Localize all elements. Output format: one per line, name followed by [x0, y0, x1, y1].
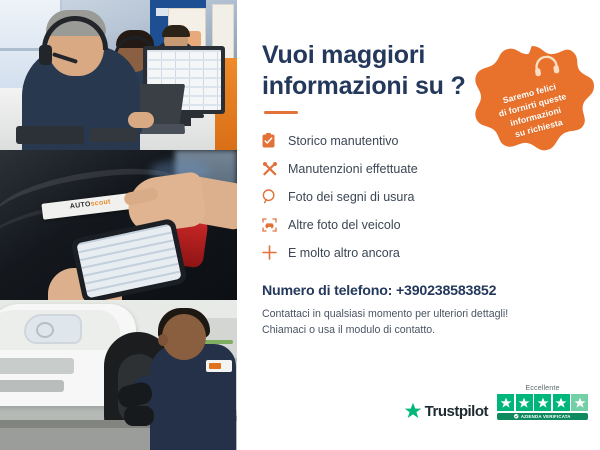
feature-label: Altre foto del veicolo — [288, 218, 401, 232]
page-title-line-1: Vuoi maggiori — [262, 41, 425, 69]
phone-number[interactable]: +390238583852 — [396, 283, 496, 299]
request-info-badge: Saremo felici di fornirti queste informa… — [470, 44, 594, 162]
car-frame-icon — [262, 218, 288, 232]
star-filled-4 — [553, 394, 570, 411]
agent-1-hand — [128, 112, 154, 128]
phone-label: Numero di telefono: — [262, 283, 396, 299]
verified-check-icon — [514, 414, 519, 419]
contact-subtext-line-2: Chiamaci o usa il modulo di contatto. — [262, 324, 435, 336]
contact-subtext: Contattaci in qualsiasi momento per ulte… — [262, 306, 578, 339]
trustpilot-star-icon — [404, 402, 422, 420]
advertisement-banner: AUTOscout — [0, 0, 600, 450]
star-partial-5 — [571, 394, 588, 411]
list-item: Altre foto del veicolo — [262, 212, 578, 237]
uniform-logo-patch — [206, 360, 232, 372]
mechanic-ear — [158, 334, 168, 346]
plus-icon — [262, 245, 288, 260]
contact-subtext-line-1: Contattaci in qualsiasi momento per ulte… — [262, 308, 508, 320]
content-panel: Vuoi maggiori informazioni su ? Saremo f… — [237, 0, 600, 450]
mechanic-glove-2 — [124, 406, 154, 426]
inspection-photo: AUTOscout — [0, 150, 237, 300]
feature-label: E molto altro ancora — [288, 246, 400, 260]
feature-label: Foto dei segni di usura — [288, 190, 414, 204]
mechanic-head — [162, 314, 206, 360]
front-bumper-decor — [0, 380, 64, 392]
rating-label: Eccellente — [525, 383, 559, 392]
list-item: E molto altro ancora — [262, 240, 578, 265]
list-item: Foto dei segni di usura — [262, 184, 578, 209]
mechanic-wheel-photo — [0, 300, 237, 450]
star-filled-1 — [497, 394, 514, 411]
verified-label: AZIENDA VERIFICATA — [521, 414, 571, 419]
star-filled-2 — [516, 394, 533, 411]
star-rating — [497, 394, 588, 411]
wrench-cross-icon — [262, 161, 288, 177]
tablet-decor-2 — [90, 128, 138, 142]
tablet-decor — [16, 126, 84, 144]
headlight-decor — [24, 314, 82, 344]
trustpilot-name: Trustpilot — [425, 403, 488, 420]
clipboard-check-icon — [262, 133, 288, 148]
phone-number-line: Numero di telefono: +390238583852 — [262, 283, 578, 299]
call-center-photo — [0, 0, 237, 150]
trustpilot-widget[interactable]: Trustpilot Eccellente — [404, 383, 588, 420]
title-underline-divider — [264, 111, 298, 114]
agent-3-hair — [162, 25, 190, 37]
feature-label: Manutenzioni effettuate — [288, 162, 418, 176]
strip-brand-label: AUTOscout — [70, 198, 112, 210]
magnifier-icon — [262, 189, 288, 204]
feature-label: Storico manutentivo — [288, 134, 398, 148]
trustpilot-rating: Eccellente — [497, 383, 588, 420]
front-grille-decor — [0, 358, 74, 374]
trustpilot-logo: Trustpilot — [404, 402, 488, 420]
page-title-line-2: informazioni su ? — [262, 72, 466, 100]
verified-company-badge: AZIENDA VERIFICATA — [497, 413, 588, 420]
star-filled-3 — [534, 394, 551, 411]
photo-column: AUTOscout — [0, 0, 237, 450]
page-title: Vuoi maggiori informazioni su ? — [262, 40, 487, 101]
